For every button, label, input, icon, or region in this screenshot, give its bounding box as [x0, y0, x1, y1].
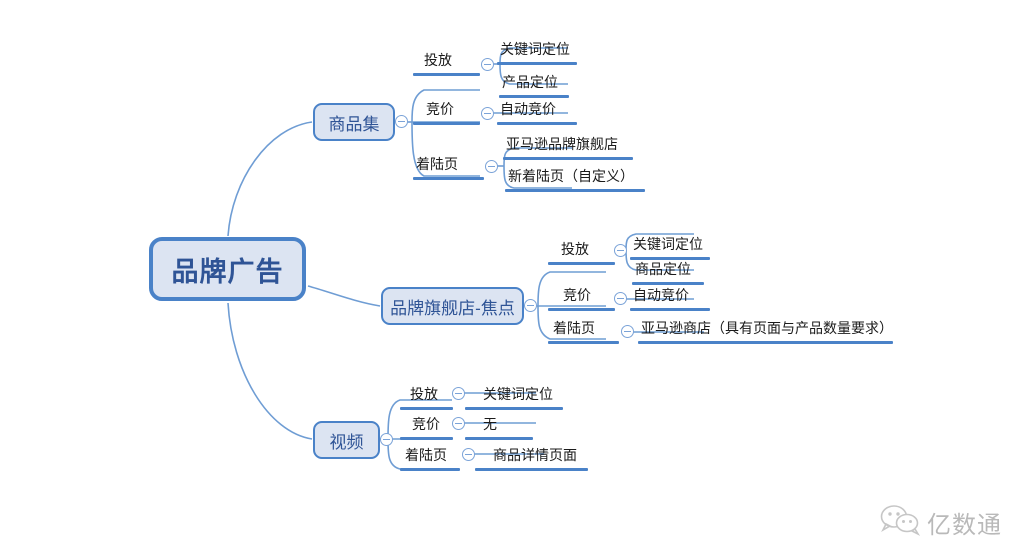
leaf-label-2-0-1: 商品定位 — [635, 260, 691, 278]
branch-node-product-collection[interactable]: 商品集 — [313, 103, 395, 141]
branch-node-label: 品牌旗舰店-焦点 — [390, 294, 515, 319]
leaf-underline — [503, 157, 633, 160]
group-label-bidding-3: 竞价 — [412, 415, 440, 433]
collapse-toggle-landing-2[interactable] — [621, 325, 634, 338]
collapse-toggle-targeting-3[interactable] — [452, 387, 465, 400]
leaf-label-3-0-0: 关键词定位 — [483, 385, 553, 403]
leaf-underline — [465, 407, 563, 410]
leaf-label-3-2-0: 商品详情页面 — [493, 446, 577, 464]
leaf-label-2-0-0: 关键词定位 — [633, 235, 703, 253]
leaf-underline — [497, 62, 577, 65]
leaf-underline — [497, 122, 577, 125]
mindmap-root-label: 品牌广告 — [172, 250, 284, 289]
leaf-underline — [499, 95, 569, 98]
branch-node-label: 视频 — [330, 428, 364, 453]
leaf-underline — [505, 189, 645, 192]
group-label-landing-1: 着陆页 — [416, 155, 458, 173]
leaf-label-1-2-0: 亚马逊品牌旗舰店 — [506, 135, 618, 153]
collapse-toggle-landing-1[interactable] — [485, 160, 498, 173]
branch-node-label: 商品集 — [329, 110, 380, 135]
collapse-toggle-branch-3[interactable] — [380, 433, 393, 446]
collapse-toggle-bidding-2[interactable] — [614, 292, 627, 305]
collapse-toggle-targeting-1[interactable] — [481, 58, 494, 71]
leaf-underline — [475, 468, 588, 471]
leaf-label-1-0-0: 关键词定位 — [500, 40, 570, 58]
group-underline — [548, 308, 615, 311]
collapse-toggle-branch-2[interactable] — [524, 299, 537, 312]
collapse-toggle-landing-3[interactable] — [462, 448, 475, 461]
group-underline — [400, 437, 453, 440]
group-label-landing-3: 着陆页 — [405, 446, 447, 464]
branch-node-brand-store-spotlight[interactable]: 品牌旗舰店-焦点 — [381, 287, 524, 325]
leaf-label-1-1-0: 自动竞价 — [500, 100, 556, 118]
group-underline — [548, 341, 619, 344]
collapse-toggle-branch-1[interactable] — [395, 115, 408, 128]
group-label-targeting-3: 投放 — [410, 385, 438, 403]
leaf-label-3-1-0: 无 — [483, 415, 497, 433]
group-label-landing-2: 着陆页 — [553, 319, 595, 337]
mindmap-root-node[interactable]: 品牌广告 — [149, 237, 306, 301]
collapse-toggle-bidding-3[interactable] — [452, 417, 465, 430]
leaf-underline — [465, 437, 533, 440]
watermark-text: 亿数通 — [927, 505, 1002, 540]
branch-node-video[interactable]: 视频 — [313, 421, 380, 459]
leaf-label-1-2-1: 新着陆页（自定义） — [508, 167, 634, 185]
group-underline — [400, 407, 453, 410]
group-underline — [413, 177, 484, 180]
group-label-bidding-1: 竞价 — [426, 100, 454, 118]
watermark: 亿数通 — [880, 504, 1002, 541]
group-underline — [413, 73, 480, 76]
leaf-label-1-0-1: 产品定位 — [502, 73, 558, 91]
leaf-underline — [630, 308, 710, 311]
group-underline — [413, 122, 480, 125]
collapse-toggle-bidding-1[interactable] — [481, 107, 494, 120]
wechat-icon — [880, 504, 920, 541]
group-underline — [548, 262, 615, 265]
collapse-toggle-targeting-2[interactable] — [614, 244, 627, 257]
group-label-targeting-2: 投放 — [561, 240, 589, 258]
mindmap-canvas: 品牌广告 商品集 投放 关键词定位 产品定位 竞价 自动竞价 着陆页 亚马逊品牌… — [0, 0, 1014, 551]
group-label-targeting-1: 投放 — [424, 51, 452, 69]
leaf-underline — [638, 341, 893, 344]
leaf-underline — [632, 282, 704, 285]
leaf-label-2-1-0: 自动竞价 — [633, 286, 689, 304]
leaf-label-2-2-0: 亚马逊商店（具有页面与产品数量要求） — [641, 319, 893, 337]
group-label-bidding-2: 竞价 — [563, 286, 591, 304]
group-underline — [400, 468, 460, 471]
